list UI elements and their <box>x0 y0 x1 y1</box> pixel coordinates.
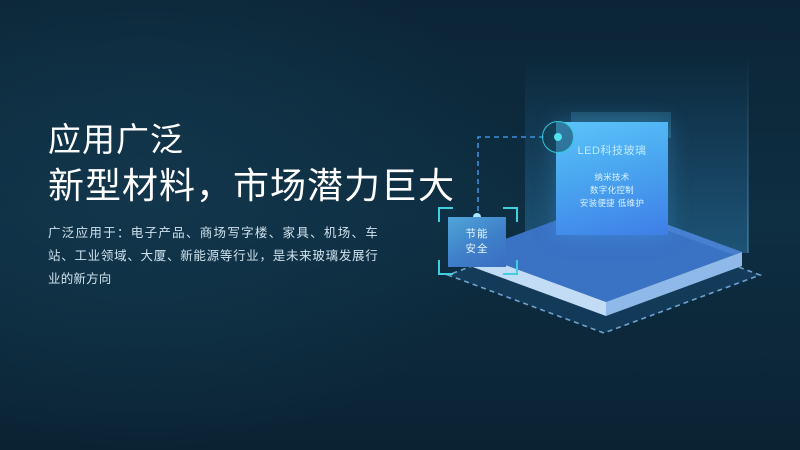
headline-line-2: 新型材料，市场潜力巨大 <box>48 164 448 208</box>
body-paragraph: 广泛应用于：电子产品、商场写字楼、家具、机场、车站、工业领域、大厦、新能源等行业… <box>48 222 378 291</box>
badge-line-1: 节能 <box>466 227 489 242</box>
slide-canvas: 应用广泛 新型材料，市场潜力巨大 广泛应用于：电子产品、商场写字楼、家具、机场、… <box>0 0 800 450</box>
panel-features: 纳米技术 数字化控制 安装便捷 低维护 <box>580 171 644 210</box>
panel-feature-1: 纳米技术 <box>580 171 644 184</box>
panel-title: LED科技玻璃 <box>578 142 647 158</box>
node-dot-icon <box>554 133 562 141</box>
text-block: 应用广泛 新型材料，市场潜力巨大 广泛应用于：电子产品、商场写字楼、家具、机场、… <box>48 118 448 291</box>
panel-feature-2: 数字化控制 <box>580 184 644 197</box>
headline-line-1: 应用广泛 <box>48 118 448 162</box>
panel-feature-3: 安装便捷 低维护 <box>580 197 644 210</box>
feature-badge: 节能 安全 <box>435 203 521 279</box>
illustration: LED科技玻璃 纳米技术 数字化控制 安装便捷 低维护 节能 <box>420 0 800 450</box>
connector-node-icon <box>542 121 574 153</box>
badge-box: 节能 安全 <box>448 217 506 267</box>
badge-line-2: 安全 <box>466 242 489 257</box>
